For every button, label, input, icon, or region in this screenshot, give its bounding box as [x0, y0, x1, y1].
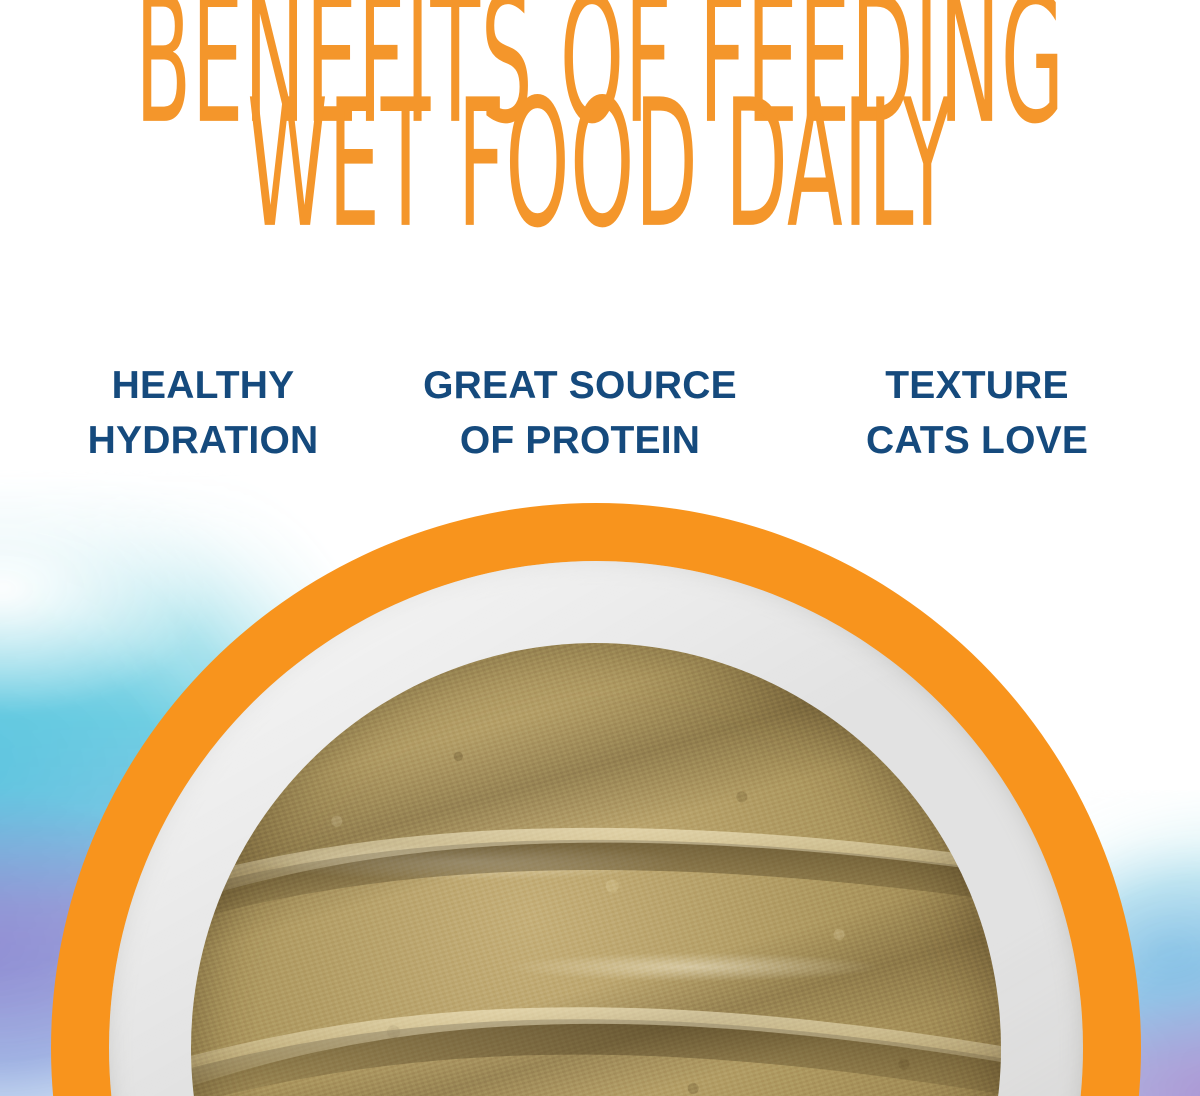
benefit-texture-cats-love: TEXTURE CATS LOVE: [781, 358, 1173, 469]
benefit-healthy-hydration-line-2: HYDRATION: [27, 413, 379, 468]
benefits-row: HEALTHY HYDRATION GREAT SOURCE OF PROTEI…: [0, 358, 1200, 469]
headline: BENEFITS OF FEEDING WET FOOD DAILY: [0, 0, 1200, 192]
benefit-great-source-of-protein-line-2: OF PROTEIN: [379, 413, 781, 468]
cat-food-bowl-image: [51, 503, 1141, 1096]
poster-canvas: BENEFITS OF FEEDING WET FOOD DAILY HEALT…: [0, 0, 1200, 1096]
benefit-great-source-of-protein: GREAT SOURCE OF PROTEIN: [379, 358, 781, 469]
headline-line-2: WET FOOD DAILY: [132, 82, 1068, 249]
benefit-texture-cats-love-line-2: CATS LOVE: [781, 413, 1173, 468]
benefit-texture-cats-love-line-1: TEXTURE: [781, 358, 1173, 413]
benefit-healthy-hydration-line-1: HEALTHY: [27, 358, 379, 413]
benefit-great-source-of-protein-line-1: GREAT SOURCE: [379, 358, 781, 413]
benefit-healthy-hydration: HEALTHY HYDRATION: [27, 358, 379, 469]
